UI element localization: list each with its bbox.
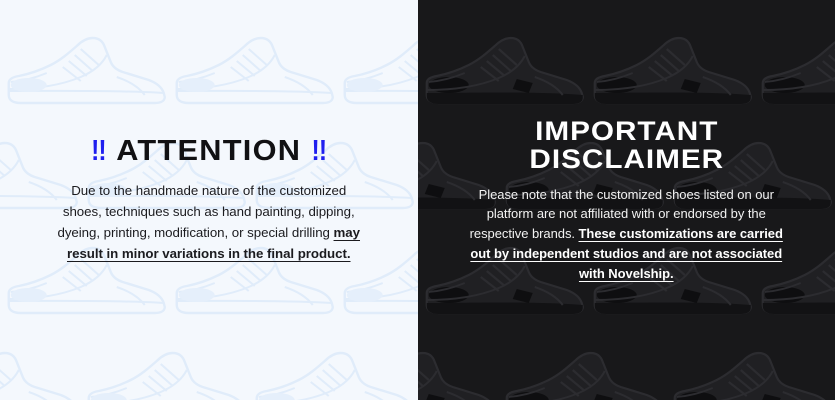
disclaimer-heading-line1: IMPORTANT (535, 117, 718, 146)
disclaimer-heading-line2: DISCLAIMER (529, 145, 724, 174)
attention-heading: !!ATTENTION!! (17, 136, 400, 167)
disclaimer-panel: IMPORTANT DISCLAIMER Please note that th… (418, 0, 835, 400)
disclaimer-banner: !!ATTENTION!! Due to the handmade nature… (0, 0, 835, 400)
attention-body: Due to the handmade nature of the custom… (54, 180, 364, 264)
exclamation-left-icon: !! (91, 136, 106, 167)
exclamation-right-icon: !! (312, 136, 327, 167)
attention-body-normal: Due to the handmade nature of the custom… (57, 183, 354, 240)
attention-content: !!ATTENTION!! Due to the handmade nature… (0, 136, 418, 264)
attention-panel: !!ATTENTION!! Due to the handmade nature… (0, 0, 418, 400)
disclaimer-content: IMPORTANT DISCLAIMER Please note that th… (418, 117, 835, 284)
attention-heading-text: ATTENTION (116, 136, 301, 167)
disclaimer-heading: IMPORTANT DISCLAIMER (427, 117, 825, 174)
disclaimer-body: Please note that the customized shoes li… (465, 185, 787, 284)
